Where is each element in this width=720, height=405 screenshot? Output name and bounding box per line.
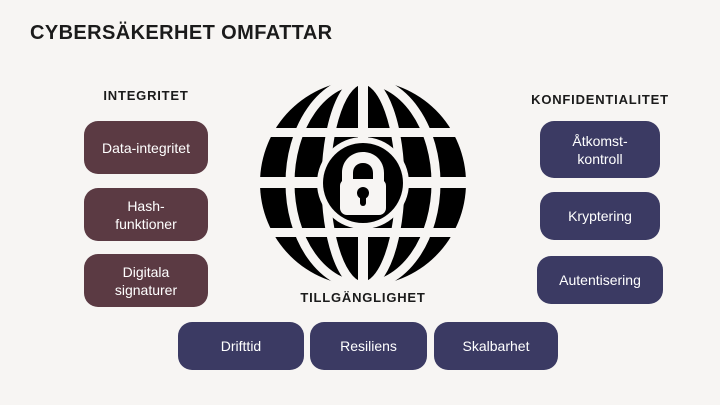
pill-line-1: Autentisering	[559, 272, 641, 288]
pill-atkomst-kontroll[interactable]: Åtkomst- kontroll	[540, 121, 660, 178]
pill-text: Skalbarhet	[463, 337, 530, 355]
pill-line-2: signaturer	[115, 282, 177, 298]
pill-text: Kryptering	[568, 207, 632, 225]
pill-resiliens[interactable]: Resiliens	[310, 322, 427, 370]
pill-hash-funktioner[interactable]: Hash- funktioner	[84, 188, 208, 241]
pill-line-1: Åtkomst-	[572, 133, 627, 149]
pill-text: Drifttid	[221, 337, 261, 355]
section-label-integritet: INTEGRITET	[78, 88, 214, 103]
section-label-konfidentialitet: KONFIDENTIALITET	[512, 92, 688, 107]
pill-drifttid[interactable]: Drifttid	[178, 322, 304, 370]
diagram-canvas: CYBERSÄKERHET OMFATTAR INTEGRITET Data-i…	[0, 0, 720, 405]
pill-text: Resiliens	[340, 337, 397, 355]
globe-lock-icon	[258, 78, 468, 288]
pill-line-1: Resiliens	[340, 338, 397, 354]
page-title: CYBERSÄKERHET OMFATTAR	[30, 22, 333, 45]
pill-text: Hash- funktioner	[115, 197, 176, 233]
pill-text: Åtkomst- kontroll	[572, 132, 627, 168]
pill-line-1: Data-integritet	[102, 140, 190, 156]
pill-line-1: Kryptering	[568, 208, 632, 224]
pill-line-1: Hash-	[127, 198, 164, 214]
pill-line-1: Digitala	[123, 264, 170, 280]
pill-autentisering[interactable]: Autentisering	[537, 256, 663, 304]
pill-kryptering[interactable]: Kryptering	[540, 192, 660, 240]
pill-line-2: kontroll	[577, 151, 622, 167]
pill-text: Autentisering	[559, 271, 641, 289]
section-label-tillganglighet: TILLGÄNGLIGHET	[272, 290, 454, 305]
pill-skalbarhet[interactable]: Skalbarhet	[434, 322, 558, 370]
pill-line-2: funktioner	[115, 216, 176, 232]
pill-line-1: Skalbarhet	[463, 338, 530, 354]
pill-digitala-signaturer[interactable]: Digitala signaturer	[84, 254, 208, 307]
pill-text: Data-integritet	[102, 139, 190, 157]
pill-text: Digitala signaturer	[115, 263, 177, 299]
pill-data-integritet[interactable]: Data-integritet	[84, 121, 208, 174]
pill-line-1: Drifttid	[221, 338, 261, 354]
